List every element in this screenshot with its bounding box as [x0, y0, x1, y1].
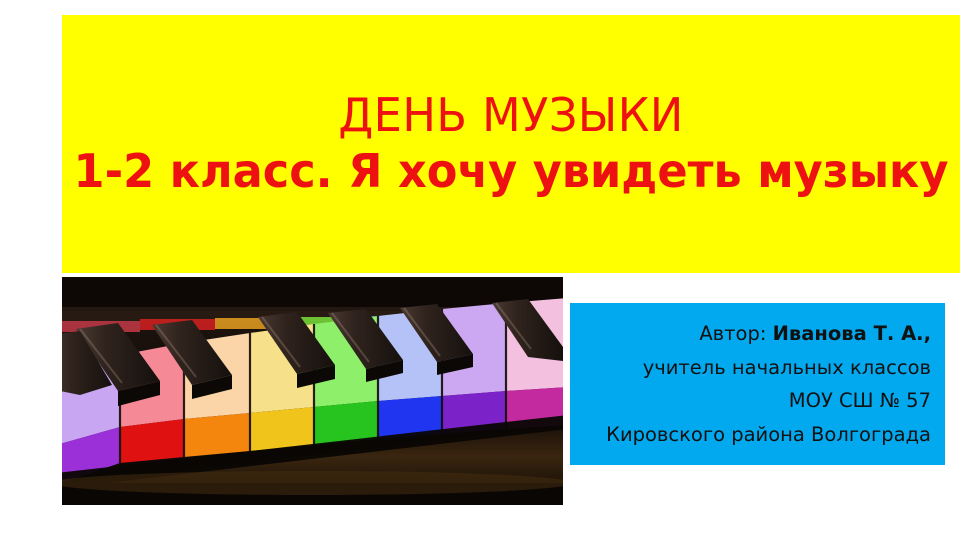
page-title-line-1: ДЕНЬ МУЗЫКИ [338, 90, 683, 142]
author-name: Иванова Т. А., [773, 322, 931, 345]
author-line-4: Кировского района Волгограда [580, 418, 931, 452]
piano-illustration [62, 277, 563, 505]
author-line-1: Автор: Иванова Т. А., [580, 317, 931, 351]
author-label: Автор: [699, 322, 772, 345]
rainbow-piano-keyboard-photo [62, 277, 563, 505]
author-line-2: учитель начальных классов [580, 351, 931, 385]
author-line-3: МОУ СШ № 57 [580, 384, 931, 418]
title-block: ДЕНЬ МУЗЫКИ 1-2 класс. Я хочу увидеть му… [62, 15, 960, 273]
page-title-line-2: 1-2 класс. Я хочу увидеть музыку [74, 146, 949, 198]
author-credit-box: Автор: Иванова Т. А., учитель начальных … [570, 303, 945, 465]
